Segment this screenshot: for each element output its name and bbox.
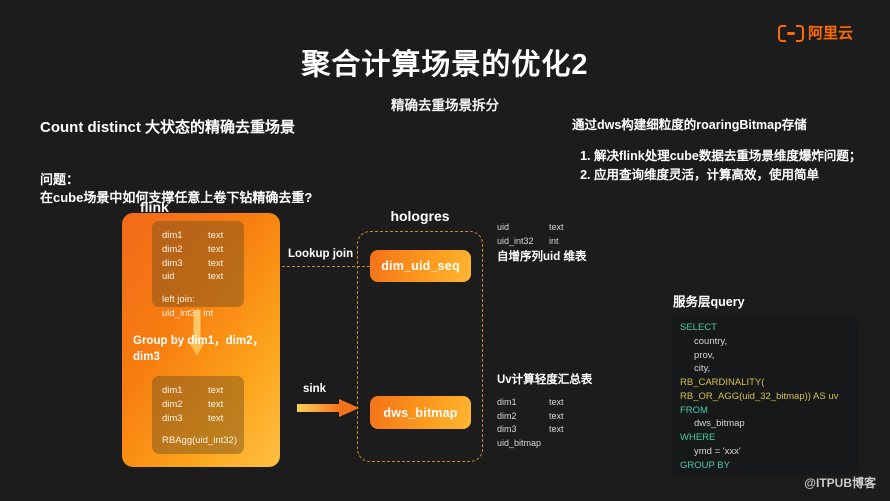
alibaba-cloud-logo: 阿里云 [778,25,853,42]
left-question-block: 问题： 在cube场景中如何支撑任意上卷下钻精确去重? [40,171,340,208]
flink-source-schema-box: dim1 text dim2 text dim3 text uid text l… [152,221,244,307]
alibaba-cloud-bracket-icon [778,25,804,42]
watermark: @ITPUB博客 [804,474,876,491]
rbagg-expression: RBAgg(uid_int32) [162,434,234,448]
query-title: 服务层query [673,291,745,310]
left-question-label: 问题： [40,171,340,189]
node-dws-bitmap[interactable]: dws_bitmap [370,396,471,429]
column-type: text [208,412,223,426]
sql-line: FROM [680,404,854,418]
sql-line: prov, [680,349,854,363]
column-name: dim3 [162,257,208,271]
column-name: uid_bitmap [497,437,549,451]
column-type: text [549,396,564,410]
column-name: dim3 [497,423,549,437]
column-type: text [549,410,564,424]
list-item: 解决flink处理cube数据去重场景维度爆炸问题； [594,148,884,166]
group-by-label: Group by dim1，dim2，dim3 [133,334,273,365]
column-type: int [549,235,559,249]
hologres-label: hologres [357,208,483,224]
table-row: uid_bitmap [497,437,607,451]
list-item: 应用查询维度灵活，计算高效，使用简单 [594,167,884,185]
column-type: text [549,221,564,235]
uid-dim-note: 自增序列uid 维表 [497,248,586,264]
sql-code-block: SELECTcountry,prov,city,RB_CARDINALITY( … [672,317,858,475]
sink-arrow-icon [297,398,359,418]
table-row: dim3 text [162,257,234,271]
table-row: dim2 text [162,243,234,257]
right-heading: 通过dws构建细粒度的roaringBitmap存储 [572,117,882,135]
column-name: dim2 [162,243,208,257]
page-subtitle: 精确去重场景拆分 [0,94,890,114]
column-type: text [208,229,223,243]
table-row: dim1 text [497,396,607,410]
sql-line: ymd = 'xxx' [680,445,854,459]
sql-line: dws_bitmap [680,417,854,431]
node-dim-uid-seq[interactable]: dim_uid_seq [370,250,471,282]
column-type: text [208,398,223,412]
column-name: dim1 [162,384,208,398]
sql-line: WHERE [680,431,854,445]
column-name: dim2 [162,398,208,412]
sql-line: SELECT [680,321,854,335]
table-row: dim2 text [162,398,234,412]
logo-text: 阿里云 [808,25,853,42]
sql-line: GROUP BY [680,459,854,473]
lookup-join-label: Lookup join [288,248,353,260]
sql-line: city, [680,362,854,376]
column-name: uid [162,270,208,284]
left-question-text: 在cube场景中如何支撑任意上卷下钻精确去重? [40,189,340,207]
table-row: uid text [162,270,234,284]
uid-dim-schema: uid text uid_int32 int [497,221,607,248]
table-row: dim2 text [497,410,607,424]
uv-summary-note: Uv计算轻度汇总表 [497,371,592,387]
uv-summary-schema: dim1 text dim2 text dim3 text uid_bitmap [497,396,607,450]
right-benefit-list: 解决flink处理cube数据去重场景维度爆炸问题； 应用查询维度灵活，计算高效… [572,148,884,186]
table-row: dim1 text [162,384,234,398]
table-row: uid_int32 int [497,235,607,249]
slide-root: 阿里云 聚合计算场景的优化2 精确去重场景拆分 Count distinct 大… [0,0,890,501]
column-type: text [549,423,564,437]
column-type: text [208,270,223,284]
column-name: dim1 [497,396,549,410]
sql-line: RB_CARDINALITY( RB_OR_AGG(uid_32_bitmap)… [680,376,854,404]
table-row: dim1 text [162,229,234,243]
left-heading: Count distinct 大状态的精确去重场景 [40,117,340,139]
column-type: text [208,384,223,398]
flink-result-schema-box: dim1 text dim2 text dim3 text RBAgg(uid_… [152,376,244,454]
column-name: uid_int32 [497,235,549,249]
column-type: text [208,243,223,257]
left-join-label: left join: [162,293,234,307]
sql-line: country, [680,335,854,349]
page-title: 聚合计算场景的优化2 [0,41,890,83]
column-name: dim2 [497,410,549,424]
table-row: dim3 text [497,423,607,437]
table-row: dim3 text [162,412,234,426]
column-name: dim3 [162,412,208,426]
column-type: text [208,257,223,271]
column-name: uid [497,221,549,235]
sink-label: sink [303,383,326,395]
column-name: dim1 [162,229,208,243]
table-row: uid text [497,221,607,235]
